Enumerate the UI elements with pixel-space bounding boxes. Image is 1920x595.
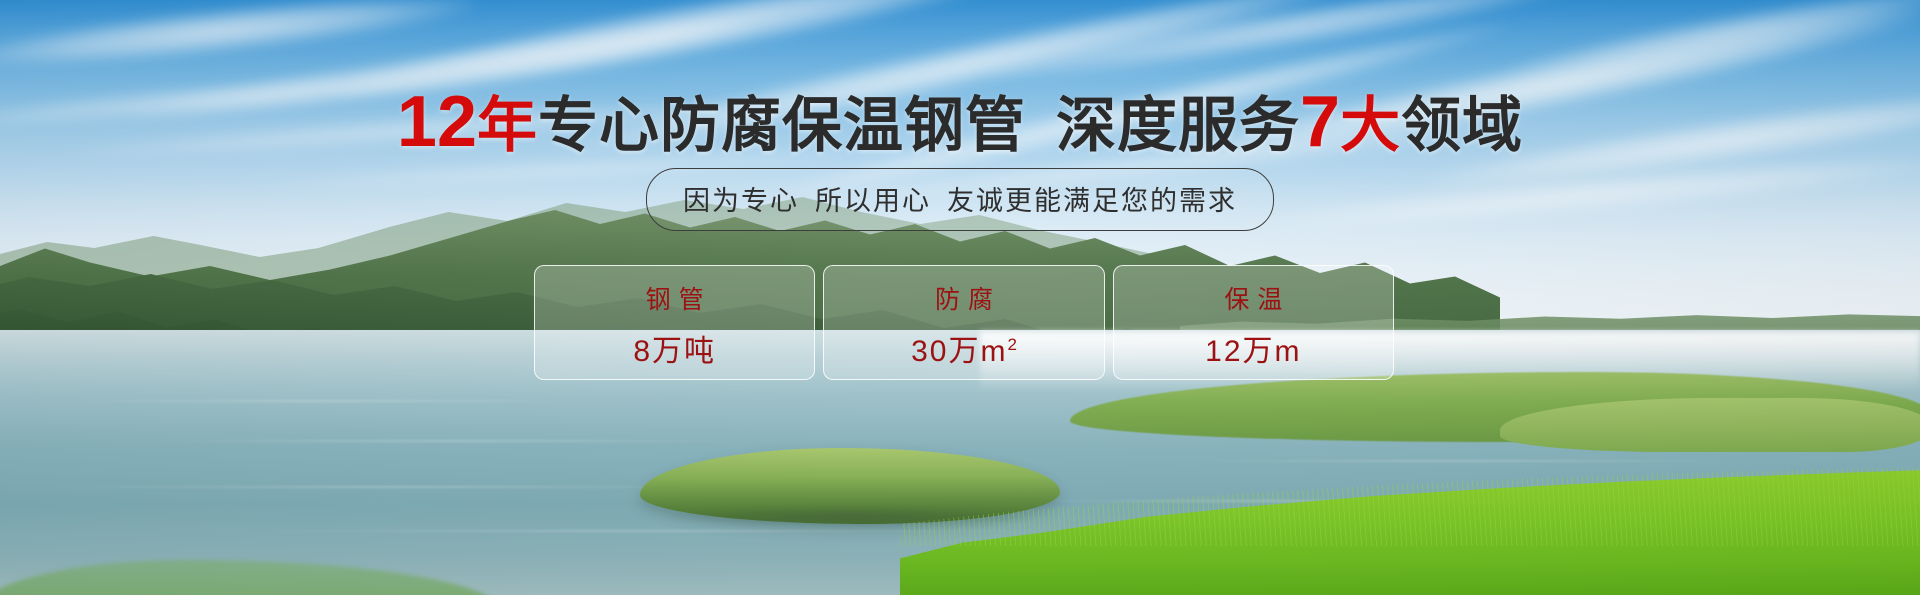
subtitle-part-1: 因为专心 (683, 186, 799, 216)
promo-banner: 12年专心防腐保温钢管深度服务7大领域 因为专心所以用心友诚更能满足您的需求 钢… (0, 0, 1920, 595)
stat-value-text: 30万m (911, 335, 1007, 368)
water-ripple (1180, 460, 1740, 462)
stat-card-title: 保温 (1216, 280, 1290, 316)
banner-subtitle-pill: 因为专心所以用心友诚更能满足您的需求 (646, 168, 1274, 231)
water-ripple (60, 400, 580, 402)
subtitle-part-2: 所以用心 (815, 186, 931, 216)
headline-years-unit: 年 (477, 92, 538, 159)
banner-headline: 12年专心防腐保温钢管深度服务7大领域 (0, 86, 1920, 158)
stat-value-text: 12万m (1205, 335, 1301, 368)
stat-card-value: 8万吨 (633, 326, 716, 370)
stat-card-title: 钢管 (638, 280, 712, 316)
banner-subtitle-wrapper: 因为专心所以用心友诚更能满足您的需求 (0, 168, 1920, 231)
headline-fields-text: 领域 (1401, 92, 1523, 159)
stat-card-anticorrosion[interactable]: 防腐 30万m2 (823, 265, 1104, 380)
subtitle-part-3: 友诚更能满足您的需求 (947, 186, 1237, 216)
stat-card-group: 钢管 8万吨 防腐 30万m2 保温 12万m (534, 265, 1394, 380)
stat-card-value: 12万m (1205, 326, 1301, 370)
stat-card-title: 防腐 (927, 280, 1001, 316)
stat-card-insulation[interactable]: 保温 12万m (1113, 265, 1394, 380)
headline-fields-number: 7 (1300, 82, 1340, 162)
headline-fields-unit: 大 (1340, 92, 1401, 159)
water-ripple (140, 440, 760, 442)
stat-value-superscript: 2 (1007, 335, 1016, 354)
headline-main-text: 专心防腐保温钢管 (538, 92, 1026, 159)
headline-years-number: 12 (397, 82, 477, 162)
stat-value-text: 8万吨 (633, 335, 716, 368)
headline-service-text: 深度服务 (1056, 92, 1300, 159)
water-ripple (40, 486, 740, 488)
stat-card-value: 30万m2 (911, 326, 1017, 370)
stat-card-steel-pipe[interactable]: 钢管 8万吨 (534, 265, 815, 380)
